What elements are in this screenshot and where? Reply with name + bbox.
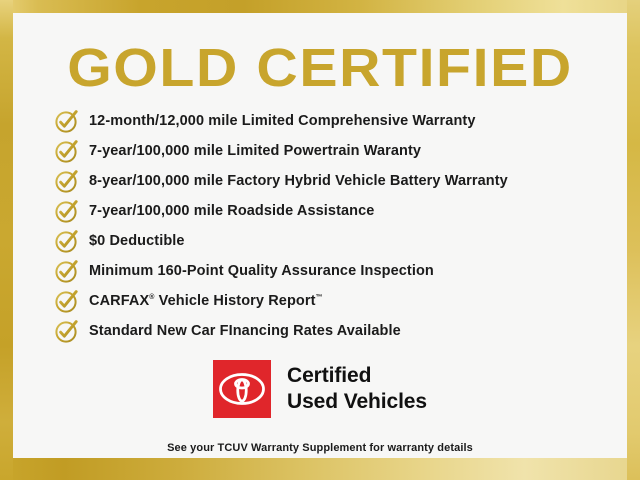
toyota-certified-badge: Certified Used Vehicles [13, 360, 627, 418]
check-circle-icon [54, 228, 80, 254]
toyota-wordmark-line1: Certified [287, 363, 427, 389]
list-item: CARFAX® Vehicle History Report™ [54, 286, 614, 316]
list-item-label: $0 Deductible [89, 233, 185, 249]
list-item: $0 Deductible [54, 226, 614, 256]
frame-bottom-border [0, 458, 640, 480]
toyota-wordmark: Certified Used Vehicles [287, 363, 427, 415]
list-item-label: 8-year/100,000 mile Factory Hybrid Vehic… [89, 173, 508, 189]
list-item: 7-year/100,000 mile Limited Powertrain W… [54, 136, 614, 166]
carfax-report-text: Vehicle History Report [154, 293, 315, 309]
list-item-label: Standard New Car FInancing Rates Availab… [89, 323, 401, 339]
check-circle-icon [54, 138, 80, 164]
list-item-label: 7-year/100,000 mile Roadside Assistance [89, 203, 374, 219]
check-circle-icon [54, 318, 80, 344]
footer-disclaimer: See your TCUV Warranty Supplement for wa… [13, 442, 627, 454]
list-item: 7-year/100,000 mile Roadside Assistance [54, 196, 614, 226]
frame-top-border [0, 0, 640, 13]
trademark-mark: ™ [316, 294, 323, 301]
list-item-label-carfax: CARFAX® Vehicle History Report™ [89, 293, 323, 309]
check-circle-icon [54, 198, 80, 224]
check-circle-icon [54, 108, 80, 134]
list-item-label: 12-month/12,000 mile Limited Comprehensi… [89, 113, 476, 129]
list-item-label: Minimum 160-Point Quality Assurance Insp… [89, 263, 434, 279]
check-circle-icon [54, 288, 80, 314]
gold-certified-certificate: GOLD CERTIFIED 12-month/12,000 mile Limi… [0, 0, 640, 480]
list-item: Standard New Car FInancing Rates Availab… [54, 316, 614, 346]
list-item-label: 7-year/100,000 mile Limited Powertrain W… [89, 143, 421, 159]
page-title: GOLD CERTIFIED [0, 38, 640, 98]
check-circle-icon [54, 168, 80, 194]
list-item: 8-year/100,000 mile Factory Hybrid Vehic… [54, 166, 614, 196]
check-circle-icon [54, 258, 80, 284]
carfax-wordmark: CARFAX [89, 293, 149, 309]
toyota-emblem-icon [219, 372, 265, 406]
toyota-wordmark-line2: Used Vehicles [287, 389, 427, 415]
list-item: Minimum 160-Point Quality Assurance Insp… [54, 256, 614, 286]
toyota-logo-icon [213, 360, 271, 418]
list-item: 12-month/12,000 mile Limited Comprehensi… [54, 106, 614, 136]
certificate-content: GOLD CERTIFIED 12-month/12,000 mile Limi… [13, 13, 627, 458]
benefits-list: 12-month/12,000 mile Limited Comprehensi… [54, 106, 614, 346]
